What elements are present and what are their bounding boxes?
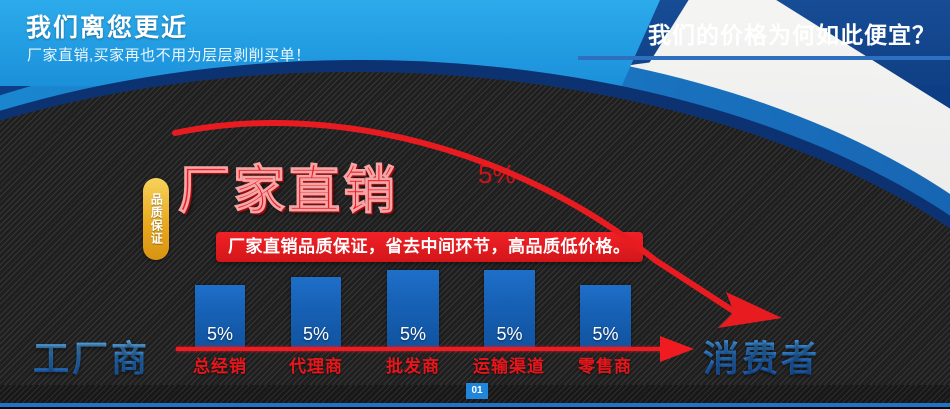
- curve-percent-label: 5%: [478, 159, 516, 190]
- quality-badge: 品质保证: [143, 178, 169, 260]
- chart-bar-value: 5%: [195, 324, 245, 345]
- chart-bar-value: 5%: [387, 324, 439, 345]
- headline-direct-sales: 厂家直销: [178, 148, 398, 223]
- chart-bar: 5%: [291, 277, 341, 348]
- chart-bar-value: 5%: [291, 324, 341, 345]
- chart-bar-label: 零售商: [563, 352, 647, 377]
- label-factory: 工厂商: [33, 330, 150, 382]
- chart-bar: 5%: [195, 285, 245, 348]
- chart-bar-label: 代理商: [274, 352, 358, 377]
- chart-bar: 5%: [580, 285, 631, 348]
- chart-bar-label: 总经销: [178, 352, 262, 377]
- chart-bar: 5%: [484, 270, 535, 348]
- page-number-badge: 01: [466, 383, 488, 399]
- baseline-arrow-shaft: [176, 347, 666, 351]
- diagram-content: 品质保证 厂家直销 厂家直销品质保证，省去中间环节，高品质低价格。 5% 工厂商…: [0, 0, 950, 409]
- label-consumer: 消费者: [703, 330, 820, 382]
- chart-bar-value: 5%: [484, 324, 535, 345]
- red-banner-text: 厂家直销品质保证，省去中间环节，高品质低价格。: [216, 232, 643, 262]
- chart-bar-label: 批发商: [371, 352, 455, 377]
- chart-bar-label: 运输渠道: [458, 352, 560, 377]
- chart-bar: 5%: [387, 270, 439, 348]
- chart-bar-value: 5%: [580, 324, 631, 345]
- promo-banner: 我们离您更近 厂家直销,买家再也不用为层层剥削买单！ 我们的价格为何如此便宜？ …: [0, 0, 950, 409]
- baseline-arrow-head: [660, 336, 694, 362]
